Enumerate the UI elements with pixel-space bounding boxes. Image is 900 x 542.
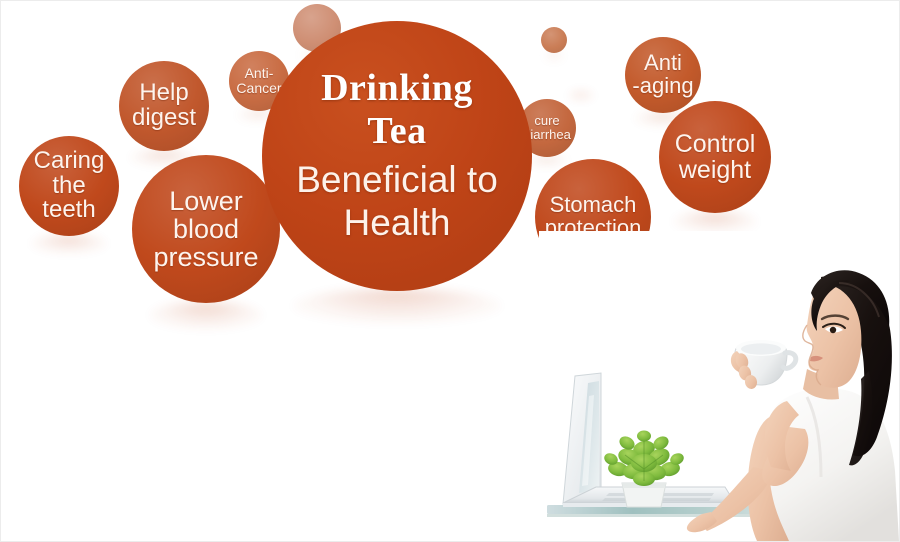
main-title-serif: Drinking Tea [262, 67, 532, 152]
bubble-control-weight[interactable]: Control weight [659, 101, 771, 213]
bubble-label-anti-aging: Anti -aging [625, 52, 701, 98]
woman-drinking-tea-photo [539, 231, 899, 541]
main-title-sans: Beneficial to Health [262, 159, 532, 245]
bubble-caring-the-teeth[interactable]: Caring the teeth [19, 136, 119, 236]
bubble-label-control-weight: Control weight [659, 131, 771, 183]
bubble-label-caring-the-teeth: Caring the teeth [19, 149, 119, 224]
bubble-reflection-lower-blood-pressure [149, 302, 264, 329]
bubble-drinking-tea-main[interactable]: Drinking Tea Beneficial to Health [262, 21, 532, 291]
decorative-bubble-dot-top-right-small [541, 27, 567, 53]
bubble-label-help-digest: Help digest [119, 81, 209, 131]
bubble-reflection-caring-the-teeth [30, 235, 108, 253]
bubble-reflection-dot-top-right-medium [567, 92, 595, 100]
bubble-help-digest[interactable]: Help digest [119, 61, 209, 151]
bubble-reflection-dot-top-right-small [544, 52, 564, 60]
bubble-label-lower-blood-pressure: Lower blood pressure [132, 187, 280, 271]
decorative-bubble-dot-top-right-medium [563, 57, 599, 93]
poster-root: Caring the teethHelp digestLower blood p… [0, 0, 900, 542]
bubble-reflection-control-weight [672, 212, 759, 232]
bubble-anti-aging[interactable]: Anti -aging [625, 37, 701, 113]
bubble-lower-blood-pressure[interactable]: Lower blood pressure [132, 155, 280, 303]
main-bubble-reflection [292, 289, 502, 323]
